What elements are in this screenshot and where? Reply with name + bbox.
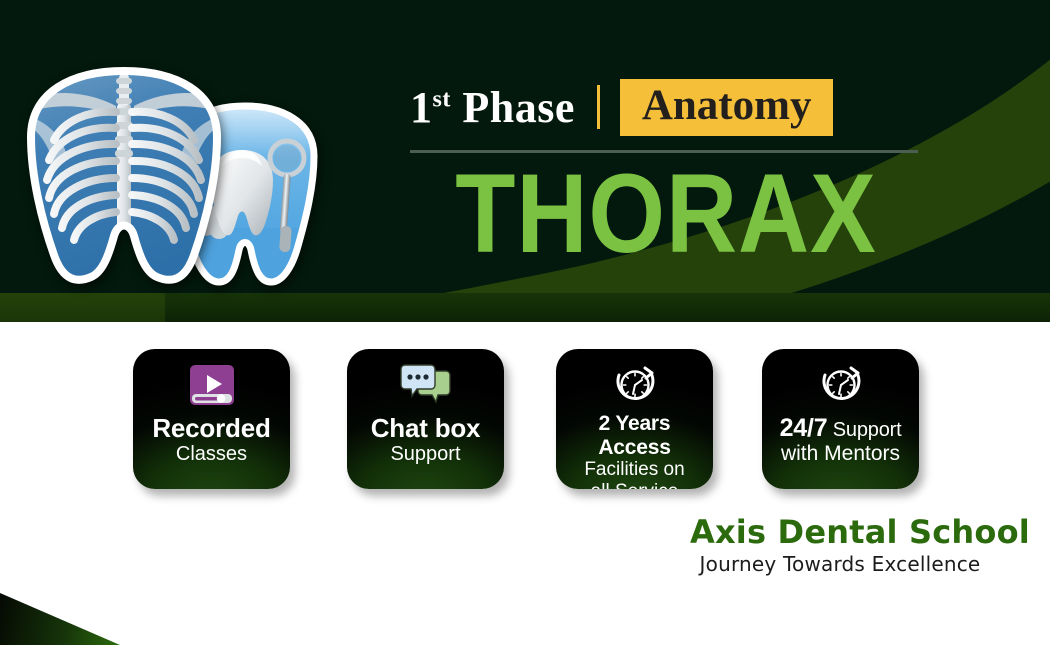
card-text: Recorded Classes <box>133 414 290 466</box>
card-title: Chat box <box>353 414 498 443</box>
phase-divider <box>597 85 600 129</box>
card-text: 2 Years Access Facilities on all Service <box>556 412 713 489</box>
title-block: 1st Phase Anatomy THORAX <box>410 78 922 274</box>
bottom-corner-wedge <box>0 593 120 645</box>
feature-card-row: Recorded Classes Chat box Support <box>0 349 1050 494</box>
brand-logo: Axis Dental School Journey Towards Excel… <box>690 515 990 576</box>
phase-row: 1st Phase Anatomy <box>410 78 922 136</box>
phase-number: 1 <box>410 83 433 132</box>
card-text: 24/7 Support with Mentors <box>762 414 919 466</box>
card-subtitle: Classes <box>139 443 284 466</box>
card-title: 2 Years Access <box>562 412 707 459</box>
page-title: THORAX <box>441 155 892 274</box>
brand-tagline: Journey Towards Excellence <box>690 552 990 576</box>
card-title-strong: 24/7 <box>780 414 828 442</box>
card-icon-wrapper <box>762 362 919 408</box>
card-title: Recorded <box>139 414 284 443</box>
clock-refresh-icon <box>818 363 864 407</box>
brand-name: Axis Dental School <box>690 515 990 550</box>
card-subtitle: with Mentors <box>768 442 913 466</box>
feature-card-recorded-classes[interactable]: Recorded Classes <box>133 349 290 489</box>
card-subtitle: Facilities on <box>562 459 707 481</box>
card-icon-wrapper <box>133 362 290 408</box>
card-subtitle: Support <box>353 443 498 466</box>
card-subtitle-second: all Service <box>562 481 707 489</box>
phase-word: Phase <box>462 83 575 132</box>
header-band-accent <box>0 293 165 322</box>
subject-badge: Anatomy <box>620 79 834 136</box>
clock-refresh-icon <box>612 363 658 407</box>
phase-label: 1st Phase <box>410 82 575 133</box>
card-icon-wrapper <box>347 362 504 408</box>
chat-bubbles-icon <box>398 363 454 407</box>
video-player-icon <box>188 363 236 407</box>
card-icon-wrapper <box>556 362 713 408</box>
card-title-rest: Support <box>827 419 901 441</box>
feature-card-24-7-support[interactable]: 24/7 Support with Mentors <box>762 349 919 489</box>
poster-canvas: 1st Phase Anatomy THORAX Recorded <box>0 0 1050 645</box>
feature-card-two-years-access[interactable]: 2 Years Access Facilities on all Service <box>556 349 713 489</box>
feature-card-chat-box[interactable]: Chat box Support <box>347 349 504 489</box>
phase-ordinal-suffix: st <box>433 86 451 112</box>
card-title: 24/7 Support <box>768 414 913 442</box>
header-bottom-band <box>0 293 1050 322</box>
tooth-ribcage-icon <box>24 64 224 290</box>
card-text: Chat box Support <box>347 414 504 466</box>
tooth-illustration-group <box>24 64 314 290</box>
